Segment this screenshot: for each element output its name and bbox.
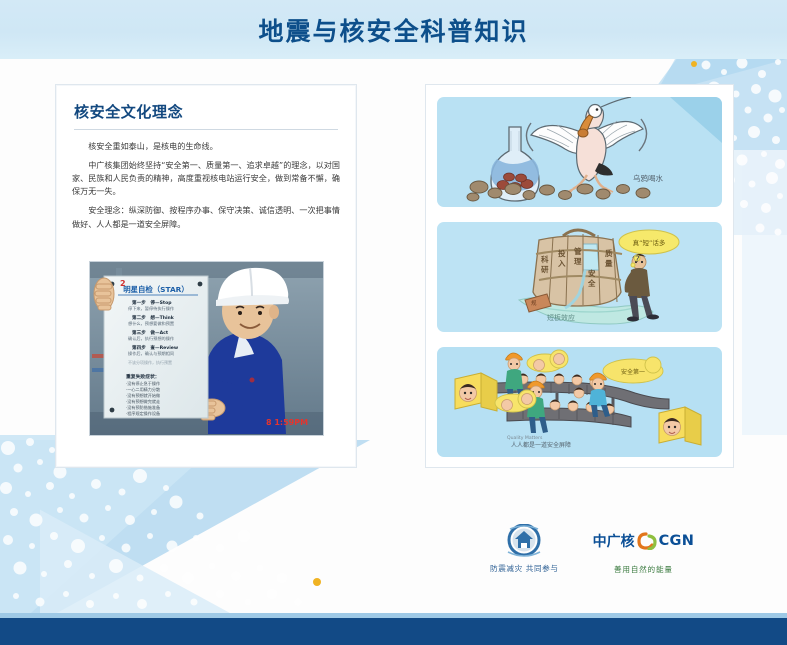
svg-text:操作后，确认与预期相同: 操作后，确认与预期相同: [128, 350, 174, 357]
svg-text:投: 投: [558, 248, 566, 258]
disaster-prevention-emblem-block: 防震减灾 共同参与: [490, 524, 559, 574]
svg-text:明星自检（STAR）: 明星自检（STAR）: [123, 285, 189, 294]
wooden-barrel-theory-illustration: 科研 投入 管理 安全 质量 规: [437, 222, 722, 332]
cgn-logo-block: 中广核 CGN 善用自然的能量: [593, 524, 695, 575]
svg-text:入: 入: [557, 259, 566, 268]
panel-2-bubble-text: 真“短”话多: [633, 238, 666, 247]
svg-text:·没有停止急于操作: ·没有停止急于操作: [126, 380, 160, 386]
svg-text:8 1:59PM: 8 1:59PM: [266, 418, 308, 427]
cgn-caption: 善用自然的能量: [614, 564, 673, 575]
svg-text:Quality Matters: Quality Matters: [507, 435, 543, 441]
disaster-prevention-caption: 防震减灾 共同参与: [490, 563, 559, 574]
svg-text:研: 研: [541, 265, 549, 274]
svg-text:管: 管: [574, 246, 582, 256]
card-left-title: 核安全文化理念: [74, 101, 338, 129]
svg-text:量: 量: [605, 258, 613, 268]
footer-logos: 防震减灾 共同参与 中广核 CGN 善用自然的能量: [490, 524, 740, 586]
svg-text:安全第一: 安全第一: [621, 368, 645, 376]
panel-3-caption: 人人都是一道安全屏障: [511, 441, 571, 449]
panel-2-caption: 短板效应: [547, 313, 575, 322]
svg-text:·没有预想就开始做: ·没有预想就开始做: [126, 392, 160, 398]
cgn-wordmark: 中广核 CGN: [593, 524, 695, 558]
card-left-header: 核安全文化理念: [74, 101, 338, 129]
svg-text:想什么，预想要做和预置: 想什么，预想要做和预置: [128, 320, 174, 327]
cgn-wordmark-en: CGN: [659, 533, 695, 549]
svg-text:第二步 想—Think: 第二步 想—Think: [132, 314, 175, 321]
svg-text:?: ?: [635, 255, 640, 265]
svg-text:第四步 查—Review: 第四步 查—Review: [132, 344, 179, 351]
svg-text:全: 全: [587, 278, 596, 288]
assembly-line-teamwork-illustration: 安全第一 Quality Matters 人人都是一道安全屏障: [437, 347, 722, 457]
paragraph-2: 中广核集团始终坚持“安全第一、质量第一、追求卓越”的理念，以对国家、民族和人民负…: [72, 159, 340, 198]
svg-text:科: 科: [541, 254, 549, 264]
crane-drinking-water-illustration: 乌鸦喝水: [437, 97, 722, 207]
svg-text:质: 质: [605, 248, 613, 258]
title-divider: [74, 129, 338, 130]
card-left-body: 核安全重如泰山，是核电的生命线。 中广核集团始终坚持“安全第一、质量第一、追求卓…: [72, 140, 340, 231]
background-right-strip: [742, 55, 787, 435]
svg-text:规: 规: [531, 299, 537, 307]
paragraph-1: 核安全重如泰山，是核电的生命线。: [72, 140, 340, 153]
svg-text:确认后，执行预想的操作: 确认后，执行预想的操作: [128, 335, 175, 342]
svg-text:停下来，暂停待执行操作: 停下来，暂停待执行操作: [128, 305, 175, 312]
footer-bar: [0, 618, 787, 645]
page-title: 地震与核安全科普知识: [0, 0, 787, 59]
svg-text:·没有预想做完就走: ·没有预想做完就走: [126, 398, 160, 404]
disaster-prevention-emblem: [502, 524, 546, 558]
svg-text:理: 理: [574, 257, 582, 266]
svg-text:·程序规定操作设备: ·程序规定操作设备: [126, 410, 160, 416]
worker-holding-star-poster-photo: 明星自检（STAR） 第一步 停—Stop 停下来，暂停待执行操作 第二步 想—…: [89, 261, 324, 436]
svg-text:安: 安: [588, 268, 596, 278]
nuclear-safety-culture-card: 核安全文化理念 核安全重如泰山，是核电的生命线。 中广核集团始终坚持“安全第一、…: [55, 84, 357, 468]
svg-text:不该分项操作，执行预置: 不该分项操作，执行预置: [128, 359, 172, 365]
svg-text:重复失败症状：: 重复失败症状：: [126, 373, 160, 380]
svg-text:第一步 停—Stop: 第一步 停—Stop: [132, 299, 172, 306]
poster-page: 地震与核安全科普知识 核安全文化理念 核安全重如泰山，是核电的生命线。 中广核集…: [0, 0, 787, 645]
svg-text:第三步 做—Act: 第三步 做—Act: [132, 329, 169, 336]
cgn-swirl-icon: [636, 532, 658, 550]
svg-text:·一心二用精力分散: ·一心二用精力分散: [126, 386, 160, 392]
cgn-wordmark-cn: 中广核: [593, 531, 635, 551]
panel-1-caption: 乌鸦喝水: [633, 173, 663, 183]
illustrations-card: 乌鸦喝水: [425, 84, 734, 468]
svg-text:2: 2: [120, 279, 126, 288]
svg-text:·没有预防措施准备: ·没有预防措施准备: [126, 404, 160, 410]
paragraph-3: 安全理念：纵深防御、按程序办事、保守决策、诚信透明、一次把事情做好、人人都是一道…: [72, 204, 340, 230]
